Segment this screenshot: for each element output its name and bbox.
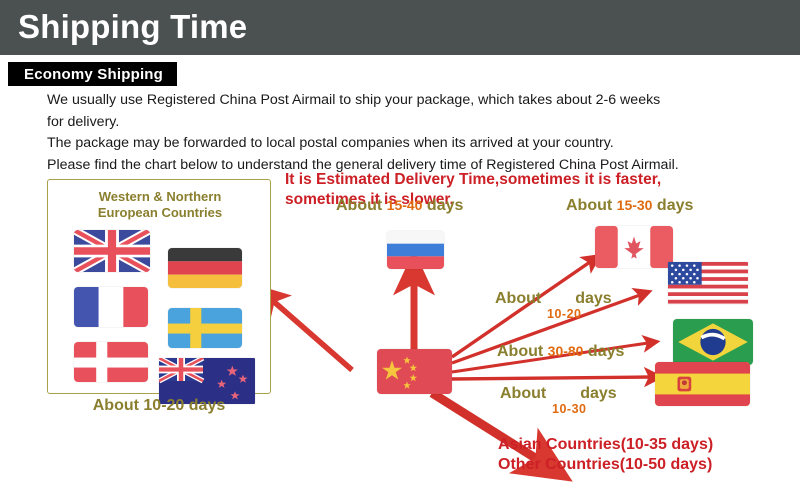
duration-brazil-range: 30-80: [548, 343, 584, 359]
duration-russia-range: 15-40: [387, 197, 423, 213]
flag-denmark: [74, 342, 148, 382]
arrow-to-spain: [452, 377, 650, 379]
duration-usa: Aboutdays 10-20: [495, 290, 612, 308]
duration-brazil-about: About: [497, 343, 543, 360]
flag-russia: [387, 231, 444, 269]
flag-brazil: [673, 319, 753, 365]
flag-sweden: [168, 308, 242, 348]
flag-united-kingdom: [74, 230, 150, 272]
flag-united-states: [668, 262, 748, 304]
duration-canada-range: 15-30: [617, 197, 653, 213]
page-title: Shipping Time: [18, 3, 247, 51]
flag-canada: [595, 226, 673, 268]
section-label: Economy Shipping: [24, 66, 163, 83]
duration-spain-range: 10-30: [552, 402, 586, 416]
intro-line-1: We usually use Registered China Post Air…: [47, 90, 787, 112]
duration-spain-about: About: [500, 385, 546, 402]
duration-spain: Aboutdays 10-30: [500, 385, 617, 403]
europe-box-title: Western & Northern European Countries: [48, 189, 272, 221]
duration-brazil: About 30-80 days: [497, 343, 624, 361]
bottom-note: Asian Countries(10-35 days) Other Countr…: [498, 435, 713, 475]
flag-spain: [655, 362, 750, 406]
europe-duration-caption: About 10-20 days: [47, 397, 271, 415]
duration-canada-days: days: [657, 197, 693, 214]
bottom-note-line-1: Asian Countries(10-35 days): [498, 435, 713, 455]
europe-countries-box: Western & Northern European Countries: [47, 179, 271, 394]
duration-usa-about: About: [495, 290, 541, 307]
section-band: Economy Shipping: [8, 62, 177, 86]
intro-paragraph: We usually use Registered China Post Air…: [47, 90, 787, 176]
duration-usa-range: 10-20: [547, 307, 581, 321]
duration-brazil-days: days: [588, 343, 624, 360]
estimate-note-line-1: It is Estimated Delivery Time,sometimes …: [285, 170, 790, 190]
europe-box-title-line-1: Western & Northern: [48, 189, 272, 205]
duration-russia: About 15-40 days: [336, 197, 463, 215]
duration-russia-about: About: [336, 197, 382, 214]
intro-line-3: The package may be forwarded to local po…: [47, 133, 787, 155]
flag-china: [377, 349, 452, 394]
flag-germany: [168, 248, 242, 288]
shipping-diagram: It is Estimated Delivery Time,sometimes …: [0, 165, 800, 493]
flag-france: [74, 287, 148, 327]
duration-canada-about: About: [566, 197, 612, 214]
duration-russia-days: days: [427, 197, 463, 214]
duration-usa-days: days: [575, 290, 611, 307]
duration-spain-days: days: [580, 385, 616, 402]
intro-line-2: for delivery.: [47, 112, 787, 134]
duration-canada: About 15-30 days: [566, 197, 693, 215]
bottom-note-line-2: Other Countries(10-50 days): [498, 455, 713, 475]
europe-box-title-line-2: European Countries: [48, 205, 272, 221]
arrow-to-europe: [272, 300, 352, 370]
